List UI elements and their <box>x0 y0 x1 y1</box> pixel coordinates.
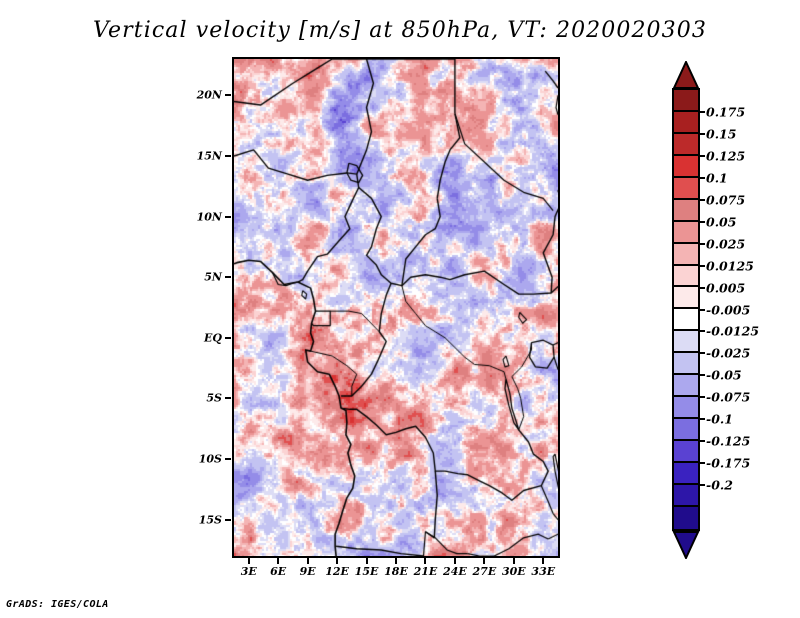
colorbar-tick-label-15: -0.125 <box>706 434 750 449</box>
lon-tick-mark <box>277 558 279 564</box>
colorbar-arrow-bottom <box>672 531 700 559</box>
colorbar-tick-label-11: -0.025 <box>706 346 750 361</box>
map-plot-area <box>232 57 560 558</box>
grads-plot-page: Vertical velocity [m/s] at 850hPa, VT: 2… <box>0 0 800 618</box>
colorbar-tick-mark <box>700 287 705 289</box>
lon-tick-mark <box>454 558 456 564</box>
colorbar-band-5 <box>674 200 698 222</box>
colorbar-tick-label-4: 0.075 <box>706 192 745 207</box>
lat-tick-mark <box>225 337 231 339</box>
lat-tick-label-5n: 5N <box>192 271 222 284</box>
colorbar-tick-label-16: -0.175 <box>706 456 750 471</box>
lat-tick-mark <box>225 276 231 278</box>
colorbar-band-19 <box>674 507 698 529</box>
vertical-velocity-field <box>234 59 558 556</box>
colorbar-tick-label-5: 0.05 <box>706 214 736 229</box>
colorbar-band-4 <box>674 178 698 200</box>
colorbar-band-8 <box>674 266 698 288</box>
colorbar-tick-label-6: 0.025 <box>706 236 745 251</box>
colorbar-bands <box>672 88 700 531</box>
colorbar-tick-mark <box>700 440 705 442</box>
lat-tick-mark <box>225 216 231 218</box>
lon-tick-label-24e: 24E <box>443 565 467 578</box>
colorbar-tick-mark <box>700 155 705 157</box>
lon-tick-mark <box>366 558 368 564</box>
footer-credit: GrADS: IGES/COLA <box>6 599 109 610</box>
colorbar-tick-mark <box>700 265 705 267</box>
colorbar-tick-label-3: 0.1 <box>706 170 728 185</box>
lon-tick-mark <box>483 558 485 564</box>
lat-tick-mark <box>225 94 231 96</box>
colorbar-tick-mark <box>700 418 705 420</box>
colorbar-tick-mark <box>700 396 705 398</box>
lon-tick-label-3e: 3E <box>241 565 257 578</box>
lon-tick-label-21e: 21E <box>414 565 438 578</box>
colorbar-tick-mark <box>700 462 705 464</box>
lat-tick-mark <box>225 458 231 460</box>
lat-tick-label-10n: 10N <box>192 210 222 223</box>
colorbar-band-17 <box>674 463 698 485</box>
colorbar-tick-mark <box>700 177 705 179</box>
lon-tick-label-6e: 6E <box>270 565 286 578</box>
colorbar-tick-label-1: 0.15 <box>706 126 736 141</box>
lon-tick-label-15e: 15E <box>355 565 379 578</box>
colorbar-tick-mark <box>700 330 705 332</box>
page-title: Vertical velocity [m/s] at 850hPa, VT: 2… <box>0 18 800 43</box>
lat-tick-mark <box>225 397 231 399</box>
colorbar-tick-mark <box>700 133 705 135</box>
lon-tick-label-9e: 9E <box>300 565 316 578</box>
lat-tick-label-15n: 15N <box>192 149 222 162</box>
lon-tick-label-12e: 12E <box>325 565 349 578</box>
lon-tick-label-33e: 33E <box>531 565 555 578</box>
lat-tick-mark <box>225 155 231 157</box>
colorbar-tick-mark <box>700 484 705 486</box>
colorbar-tick-mark <box>700 111 705 113</box>
colorbar-band-0 <box>674 90 698 112</box>
colorbar-tick-label-2: 0.125 <box>706 148 745 163</box>
colorbar-band-1 <box>674 112 698 134</box>
colorbar-tick-mark <box>700 243 705 245</box>
colorbar-band-13 <box>674 375 698 397</box>
lon-tick-mark <box>513 558 515 564</box>
colorbar-band-18 <box>674 485 698 507</box>
colorbar-tick-label-8: 0.005 <box>706 280 745 295</box>
colorbar-tick-mark <box>700 374 705 376</box>
colorbar-band-15 <box>674 419 698 441</box>
colorbar-tick-mark <box>700 352 705 354</box>
lon-tick-mark <box>542 558 544 564</box>
colorbar-tick-label-10: -0.0125 <box>706 324 759 339</box>
colorbar <box>672 61 700 558</box>
lon-tick-label-18e: 18E <box>384 565 408 578</box>
lon-tick-mark <box>395 558 397 564</box>
colorbar-band-10 <box>674 309 698 331</box>
colorbar-band-11 <box>674 331 698 353</box>
colorbar-tick-label-13: -0.075 <box>706 390 750 405</box>
colorbar-tick-mark <box>700 309 705 311</box>
colorbar-band-16 <box>674 441 698 463</box>
lon-tick-mark <box>424 558 426 564</box>
lon-tick-mark <box>336 558 338 564</box>
lat-tick-label-5s: 5S <box>192 392 222 405</box>
colorbar-tick-label-12: -0.05 <box>706 368 742 383</box>
colorbar-band-2 <box>674 134 698 156</box>
colorbar-band-14 <box>674 397 698 419</box>
lat-tick-label-eq: EQ <box>192 331 222 344</box>
lon-tick-mark <box>307 558 309 564</box>
colorbar-band-12 <box>674 353 698 375</box>
colorbar-band-7 <box>674 244 698 266</box>
lon-tick-label-30e: 30E <box>502 565 526 578</box>
lon-tick-mark <box>248 558 250 564</box>
colorbar-band-6 <box>674 222 698 244</box>
colorbar-tick-label-7: 0.0125 <box>706 258 754 273</box>
colorbar-tick-mark <box>700 221 705 223</box>
colorbar-band-9 <box>674 287 698 309</box>
lat-tick-mark <box>225 519 231 521</box>
lon-tick-label-27e: 27E <box>473 565 497 578</box>
colorbar-tick-label-14: -0.1 <box>706 412 733 427</box>
colorbar-tick-label-17: -0.2 <box>706 478 733 493</box>
colorbar-tick-label-9: -0.005 <box>706 302 750 317</box>
lat-tick-label-20n: 20N <box>192 89 222 102</box>
colorbar-tick-mark <box>700 199 705 201</box>
lat-tick-label-10s: 10S <box>192 453 222 466</box>
lat-tick-label-15s: 15S <box>192 513 222 526</box>
colorbar-arrow-top <box>672 61 700 89</box>
colorbar-tick-label-0: 0.175 <box>706 104 745 119</box>
colorbar-band-3 <box>674 156 698 178</box>
